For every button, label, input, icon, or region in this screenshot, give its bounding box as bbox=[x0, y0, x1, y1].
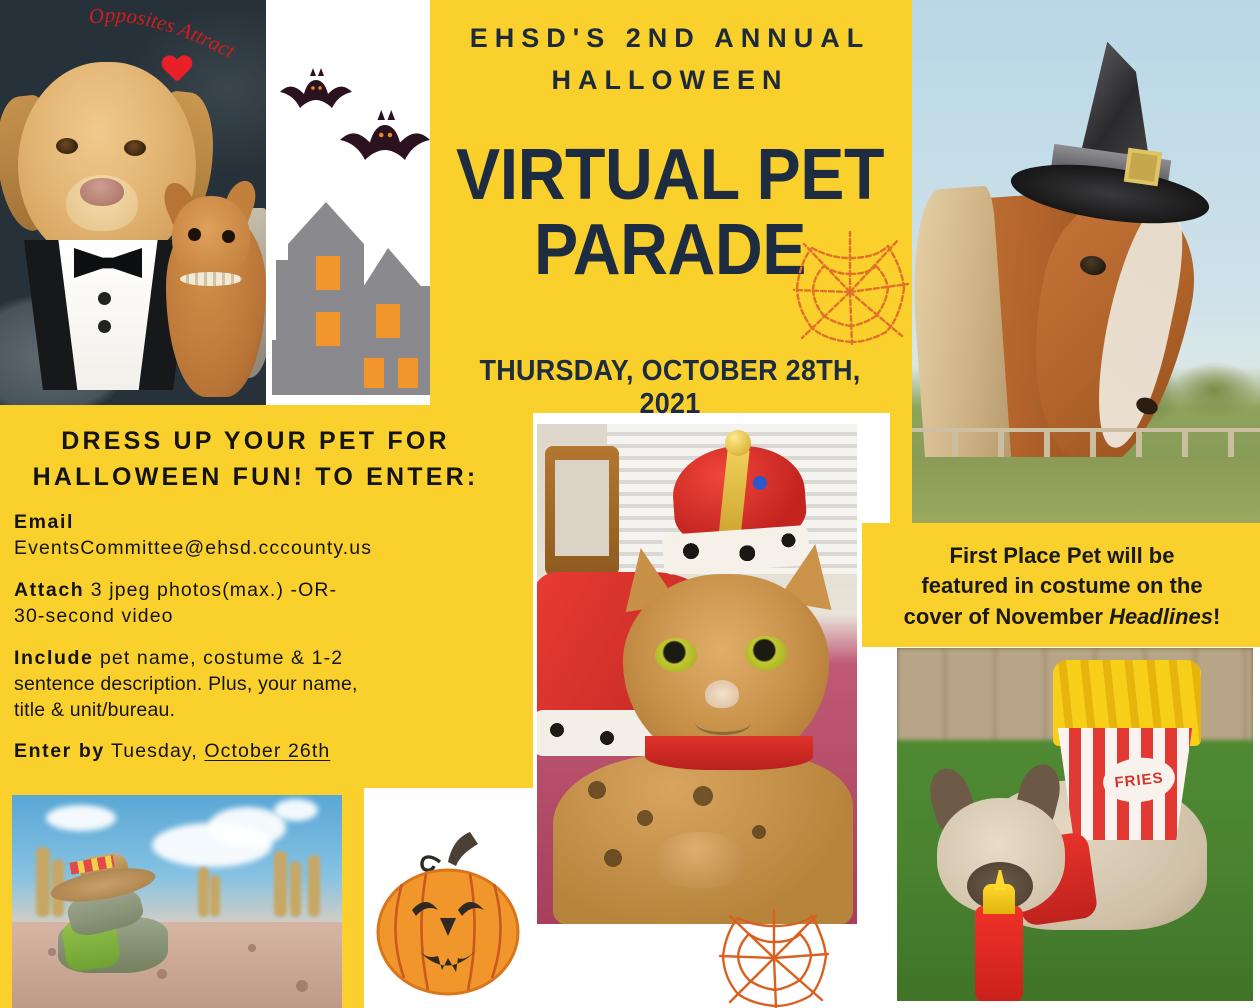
title-line-2: PARADE bbox=[449, 215, 891, 286]
attach-value-1: 3 jpeg photos(max.) -OR- bbox=[84, 579, 337, 601]
attach-label: Attach bbox=[14, 579, 84, 601]
publication-name: Headlines bbox=[1109, 604, 1213, 629]
bat-icon bbox=[280, 68, 352, 108]
instruction-deadline: Enter by Tuesday, October 26th bbox=[14, 739, 519, 765]
prize-line-2: featured in costume on the bbox=[921, 573, 1202, 598]
instructions-heading-line-1: DRESS UP YOUR PET FOR bbox=[61, 427, 450, 455]
bat-icon-group bbox=[272, 60, 432, 180]
include-value-2: sentence description. Plus, your name, bbox=[14, 673, 358, 695]
instructions-heading-line-2: HALLOWEEN FUN! TO ENTER: bbox=[33, 463, 479, 491]
heart-icon bbox=[162, 56, 192, 83]
title-line-1: VIRTUAL PET bbox=[456, 135, 884, 215]
email-label: Email bbox=[14, 511, 74, 533]
instruction-email: Email EventsCommittee@ehsd.cccounty.us bbox=[14, 510, 519, 562]
photo-cat-king-crown bbox=[537, 424, 857, 924]
enter-by-label: Enter by bbox=[14, 740, 105, 762]
header-panel: EHSD'S 2ND ANNUAL HALLOWEEN VIRTUAL PET … bbox=[430, 0, 910, 413]
instructions-heading: DRESS UP YOUR PET FOR HALLOWEEN FUN! TO … bbox=[0, 423, 511, 496]
prize-line-1: First Place Pet will be bbox=[950, 543, 1175, 568]
page-title: VIRTUAL PET PARADE bbox=[449, 140, 891, 285]
entry-instructions-panel: DRESS UP YOUR PET FOR HALLOWEEN FUN! TO … bbox=[0, 405, 533, 788]
haunted-house-icon bbox=[268, 200, 448, 395]
prize-line-3a: cover of November bbox=[904, 604, 1109, 629]
kicker-line-1: EHSD'S 2ND ANNUAL bbox=[470, 23, 870, 53]
photo-lizard-sombrero bbox=[12, 795, 342, 1008]
jack-o-lantern-icon bbox=[372, 826, 524, 1001]
include-label: Include bbox=[14, 647, 93, 669]
email-value[interactable]: EventsCommittee@ehsd.cccounty.us bbox=[14, 537, 372, 559]
include-value-1: pet name, costume & 1-2 bbox=[93, 647, 343, 669]
include-value-3: title & unit/bureau. bbox=[14, 699, 175, 721]
photo-dogs-tuxedo-and-bride: Opposites Attract bbox=[0, 0, 266, 405]
flyer-canvas: Opposites Attract bbox=[0, 0, 1260, 1008]
attach-value-2: 30-second video bbox=[14, 605, 174, 627]
instruction-attach: Attach 3 jpeg photos(max.) -OR- 30-secon… bbox=[14, 578, 519, 630]
prize-panel: First Place Pet will be featured in cost… bbox=[862, 523, 1260, 647]
bat-icon bbox=[340, 110, 430, 160]
prize-line-3b: ! bbox=[1213, 604, 1220, 629]
enter-by-value: Tuesday, bbox=[105, 740, 205, 762]
event-kicker: EHSD'S 2ND ANNUAL HALLOWEEN bbox=[430, 18, 910, 102]
photo-dog-fries-costume: FRIES bbox=[897, 648, 1253, 1001]
instructions-body: Email EventsCommittee@ehsd.cccounty.us A… bbox=[14, 510, 519, 781]
enter-by-date: October 26th bbox=[204, 740, 330, 762]
instruction-include: Include pet name, costume & 1-2 sentence… bbox=[14, 646, 519, 724]
prize-text: First Place Pet will be featured in cost… bbox=[876, 541, 1248, 632]
photo-horse-witch-hat bbox=[912, 0, 1260, 523]
kicker-line-2: HALLOWEEN bbox=[552, 65, 789, 95]
